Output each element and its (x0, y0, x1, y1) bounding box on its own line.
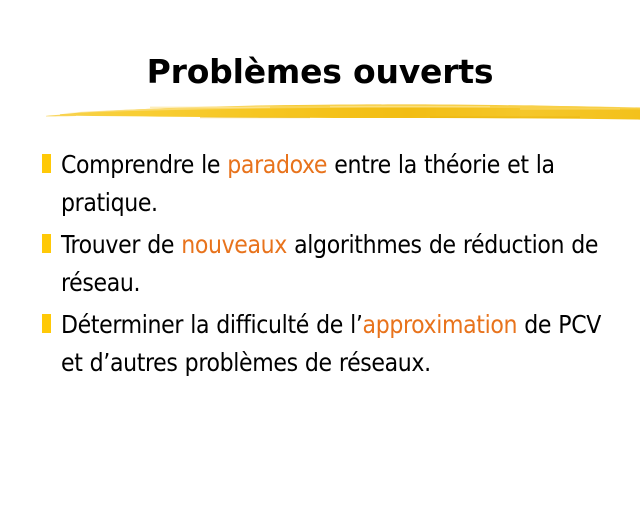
bullet-list: Comprendre le paradoxe entre la théorie … (42, 146, 626, 386)
square-bullet-icon (42, 234, 51, 253)
text-segment: entre la théorie (327, 150, 500, 179)
highlight-keyword: approximation (363, 310, 518, 339)
text-segment: algorithmes de (287, 230, 456, 259)
title-block: Problèmes ouverts (0, 52, 640, 92)
highlight-keyword: paradoxe (227, 150, 327, 179)
highlight-keyword: nouveaux (181, 230, 287, 259)
list-item: Trouver de nouveaux algorithmes de réduc… (42, 226, 626, 302)
page-title: Problèmes ouverts (147, 52, 494, 92)
square-bullet-icon (42, 154, 51, 173)
list-item-text: Déterminer la difficulté de l’approximat… (61, 306, 626, 382)
text-segment: Déterminer la difficulté de l’ (61, 310, 363, 339)
list-item: Déterminer la difficulté de l’approximat… (42, 306, 626, 382)
presentation-slide: Problèmes ouverts (0, 0, 640, 512)
text-segment: Trouver de (61, 230, 181, 259)
list-item: Comprendre le paradoxe entre la théorie … (42, 146, 626, 222)
yellow-brush-stroke (0, 96, 640, 128)
list-item-text: Trouver de nouveaux algorithmes de réduc… (61, 226, 626, 302)
list-item-text: Comprendre le paradoxe entre la théorie … (61, 146, 626, 222)
square-bullet-icon (42, 314, 51, 333)
text-segment: Comprendre le (61, 150, 227, 179)
